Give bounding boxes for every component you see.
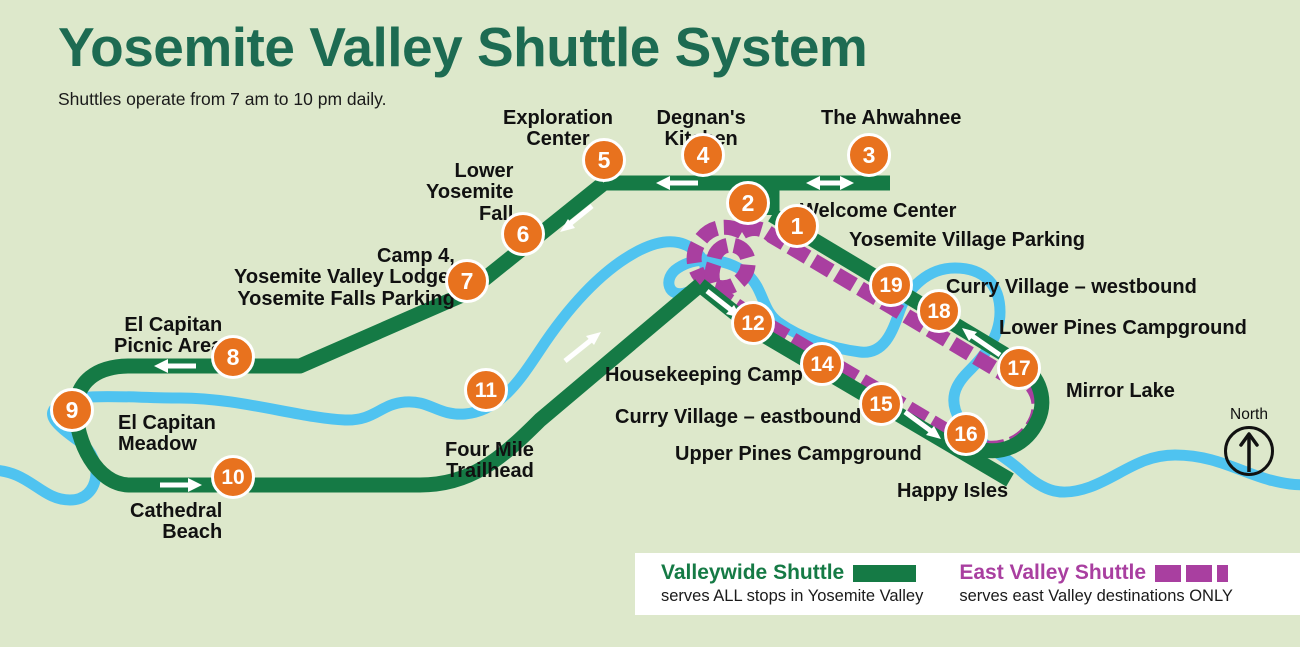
stop-label-14: Curry Village – eastbound [615,407,861,428]
stop-marker-14[interactable]: 14 [800,342,844,386]
stop-marker-6[interactable]: 6 [501,212,545,256]
stop-marker-18[interactable]: 18 [917,289,961,333]
stop-label-10: Cathedral Beach [130,501,222,544]
stop-label-12: Housekeeping Camp [605,365,803,386]
stop-label-6: Lower Yosemite Fall [426,161,513,225]
legend-east-valley-description: serves east Valley destinations ONLY [959,587,1233,606]
legend-valleywide-title: Valleywide Shuttle [661,562,844,584]
compass-rose: North [1216,406,1282,476]
stop-label-3: The Ahwahnee [821,108,961,129]
east-valley-line-swatch-icon [1155,565,1228,582]
stop-label-18: Lower Pines Campground [999,318,1247,339]
legend-valleywide: Valleywide Shuttle serves ALL stops in Y… [661,562,923,605]
stop-marker-3[interactable]: 3 [847,133,891,177]
stop-marker-5[interactable]: 5 [582,138,626,182]
stop-marker-17[interactable]: 17 [997,346,1041,390]
legend-east-valley: East Valley Shuttle serves east Valley d… [959,562,1233,605]
stop-label-1: Yosemite Village Parking [849,230,1085,251]
stop-label-2: Welcome Center [800,201,956,222]
stop-marker-2[interactable]: 2 [726,181,770,225]
stop-marker-1[interactable]: 1 [775,204,819,248]
stop-label-16: Happy Isles [897,481,1008,502]
stop-marker-15[interactable]: 15 [859,382,903,426]
legend-east-valley-title: East Valley Shuttle [959,562,1146,584]
stop-marker-10[interactable]: 10 [211,455,255,499]
stop-marker-7[interactable]: 7 [445,259,489,303]
shuttle-map-page: Yosemite Valley Shuttle System Shuttles … [0,0,1300,647]
page-header: Yosemite Valley Shuttle System Shuttles … [58,20,867,110]
stop-label-9: El Capitan Meadow [118,413,216,456]
map-legend: Valleywide Shuttle serves ALL stops in Y… [635,553,1300,615]
stop-marker-4[interactable]: 4 [681,133,725,177]
page-title: Yosemite Valley Shuttle System [58,20,867,75]
stop-label-17: Mirror Lake [1066,381,1175,402]
stop-marker-16[interactable]: 16 [944,412,988,456]
stop-label-7: Camp 4, Yosemite Valley Lodge, Yosemite … [234,246,455,310]
arrow-northeast-four-mile [565,332,601,361]
page-subtitle: Shuttles operate from 7 am to 10 pm dail… [58,89,867,110]
stop-marker-19[interactable]: 19 [869,263,913,307]
legend-valleywide-description: serves ALL stops in Yosemite Valley [661,587,923,606]
stop-marker-12[interactable]: 12 [731,301,775,345]
valleywide-line-swatch-icon [853,565,916,582]
stop-label-8: El Capitan Picnic Area [114,315,222,358]
stop-label-19: Curry Village – westbound [946,277,1197,298]
stop-label-11: Four Mile Trailhead [445,440,534,483]
stop-marker-9[interactable]: 9 [50,388,94,432]
stop-label-15: Upper Pines Campground [675,444,922,465]
compass-label: North [1216,406,1282,424]
stop-marker-11[interactable]: 11 [464,368,508,412]
compass-ring [1224,426,1274,476]
stop-marker-8[interactable]: 8 [211,335,255,379]
